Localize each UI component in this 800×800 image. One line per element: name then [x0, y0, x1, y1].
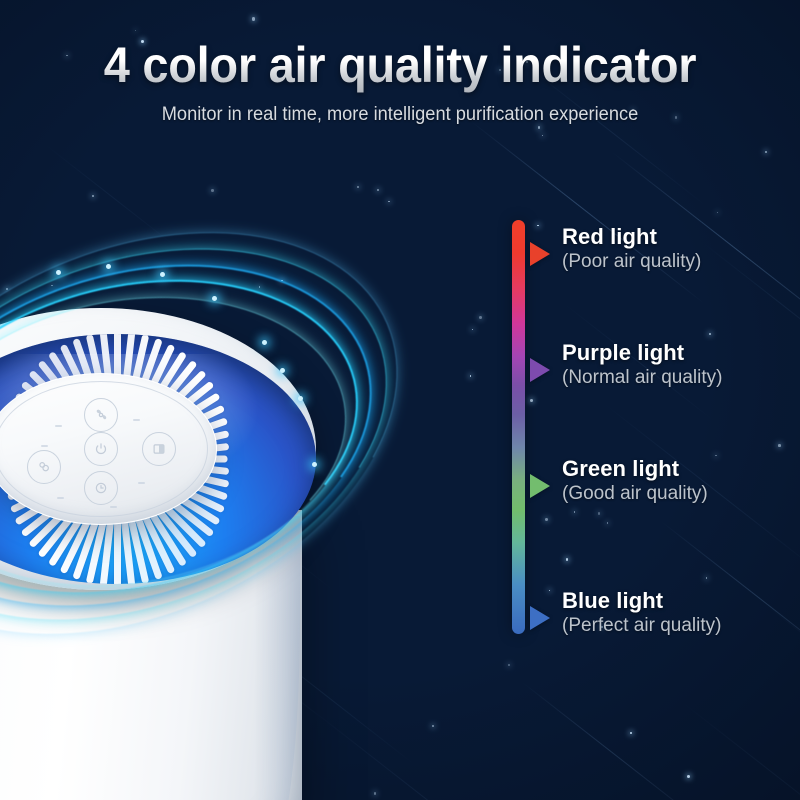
airflow-glow-dot: [106, 264, 111, 269]
airflow-glow-dot: [262, 340, 267, 345]
star-particle: [92, 195, 94, 197]
color-gradient-bar: [512, 220, 525, 634]
legend-title: Purple light: [562, 340, 722, 366]
air-purifier-image: [0, 292, 470, 800]
star-particle: [542, 135, 543, 136]
legend-text: Green light(Good air quality): [562, 456, 708, 505]
star-particle: [470, 375, 471, 376]
airflow-glow-arcs: [0, 256, 420, 626]
star-particle: [687, 775, 690, 778]
legend-description: (Normal air quality): [562, 367, 722, 389]
legend-title: Green light: [562, 456, 708, 482]
legend-text: Red light(Poor air quality): [562, 224, 701, 273]
triangle-marker-icon: [530, 474, 550, 498]
star-particle: [472, 329, 474, 331]
promo-banner: 4 color air quality indicator Monitor in…: [0, 0, 800, 800]
star-particle: [630, 732, 632, 734]
page-title: 4 color air quality indicator: [24, 36, 776, 94]
legend-text: Blue light(Perfect air quality): [562, 588, 721, 637]
triangle-marker-icon: [530, 242, 550, 266]
triangle-marker-icon: [530, 606, 550, 630]
star-particle: [135, 30, 136, 31]
indicator-legend: Red light(Poor air quality)Purple light(…: [504, 212, 800, 642]
star-particle: [252, 17, 255, 20]
star-particle: [357, 186, 359, 188]
airflow-glow-dot: [312, 462, 317, 467]
legend-description: (Poor air quality): [562, 251, 701, 273]
airflow-glow-dot: [298, 396, 303, 401]
airflow-glow-dot: [56, 270, 61, 275]
star-particle: [377, 189, 379, 191]
legend-description: (Perfect air quality): [562, 615, 721, 637]
airflow-glow-dot: [212, 296, 217, 301]
star-particle: [765, 151, 767, 153]
legend-title: Blue light: [562, 588, 721, 614]
legend-text: Purple light(Normal air quality): [562, 340, 722, 389]
star-particle: [538, 126, 540, 128]
airflow-glow-dot: [160, 272, 165, 277]
page-subtitle: Monitor in real time, more intelligent p…: [16, 104, 784, 126]
airflow-glow-dot: [280, 368, 285, 373]
legend-description: (Good air quality): [562, 483, 708, 505]
star-particle: [211, 189, 214, 192]
star-particle: [479, 316, 482, 319]
star-particle: [388, 201, 390, 203]
triangle-marker-icon: [530, 358, 550, 382]
star-particle: [508, 664, 510, 666]
legend-title: Red light: [562, 224, 701, 250]
